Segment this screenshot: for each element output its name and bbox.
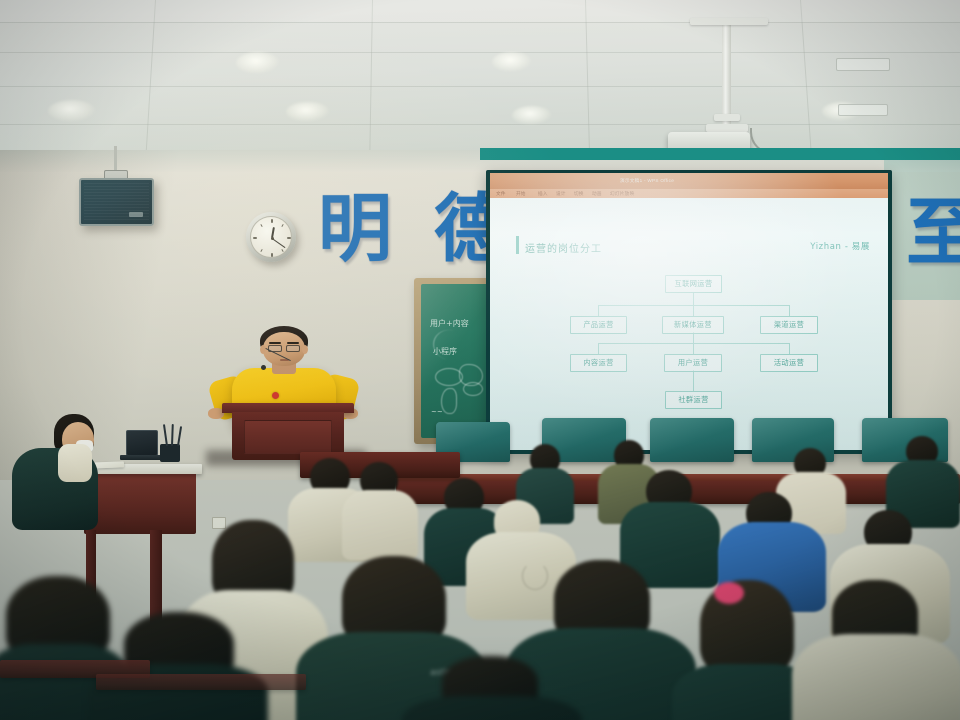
ceiling-light xyxy=(48,100,96,122)
audience-member xyxy=(886,436,960,516)
bench-row-front xyxy=(96,674,306,690)
seated-operator xyxy=(12,414,122,534)
podium-front-panel xyxy=(244,420,332,454)
audience-member xyxy=(620,470,720,574)
flow-node-l3-2: 活动运营 xyxy=(760,354,818,372)
laptop-base[interactable] xyxy=(120,455,164,460)
chalk-scribble: ~~ xyxy=(431,408,443,416)
presenter-badge xyxy=(272,392,279,399)
clock-minute-hand xyxy=(272,238,286,248)
presenter-brow xyxy=(269,342,281,344)
chalkboard: 用户+内容 小程序 ~~ xyxy=(421,284,492,438)
slide-title: 运营的岗位分工 xyxy=(525,240,602,255)
slide-logo: Yizhan - 易展 xyxy=(810,240,870,252)
ceiling-light xyxy=(236,52,280,74)
pen-holder xyxy=(160,444,180,462)
projector-mount-plate xyxy=(706,124,748,132)
audience-member xyxy=(402,656,582,720)
flow-node-l4-0: 社群运营 xyxy=(665,391,722,409)
chair-back xyxy=(650,418,734,462)
presenter-ear-right xyxy=(302,345,308,354)
lecture-hall-photo: 明 德 至 用户+内容 小程序 ~~ xyxy=(0,0,960,720)
menu-item-5[interactable]: 动画 xyxy=(592,191,602,197)
ceiling-light xyxy=(492,52,532,72)
ceiling-vent xyxy=(838,104,888,116)
titlebar-text: 演示文稿1 - WPS Office xyxy=(620,178,674,184)
projection-screen: 演示文稿1 - WPS Office 文件 开始 插入 设计 切换 动画 幻灯片… xyxy=(490,173,888,450)
wall-character-3: 至 xyxy=(906,196,960,270)
wall-speaker xyxy=(79,178,154,226)
speaker-stem xyxy=(114,146,117,172)
operator-scarf xyxy=(58,444,92,482)
presenter-brow xyxy=(287,342,299,344)
app-menubar: 文件 开始 插入 设计 切换 动画 幻灯片放映 xyxy=(490,189,888,198)
audience-member xyxy=(342,462,418,550)
flow-connector xyxy=(598,305,790,306)
flow-node-l3-0: 内容运营 xyxy=(570,354,627,372)
slide-title-accent xyxy=(516,236,519,254)
menu-item-6[interactable]: 幻灯片放映 xyxy=(610,191,634,197)
projector-mount-bracket xyxy=(714,114,740,121)
hair-scrunchie xyxy=(714,582,744,604)
flow-connector xyxy=(598,343,790,344)
slide-canvas: 运营的岗位分工 Yizhan - 易展 互联网运营 产品运营 新媒体运营 渠道运… xyxy=(490,198,888,450)
flow-node-root: 互联网运营 xyxy=(665,275,722,293)
ceiling-light xyxy=(512,106,552,125)
microphone-head xyxy=(261,365,266,370)
laptop-screen[interactable] xyxy=(126,430,158,456)
flow-node-l2-2: 渠道运营 xyxy=(760,316,818,334)
audience-member xyxy=(792,580,960,720)
flow-connector xyxy=(693,370,694,392)
flow-node-l3-1: 用户运营 xyxy=(664,354,722,372)
presenter-glasses xyxy=(286,345,300,352)
menu-item-0[interactable]: 文件 xyxy=(496,191,506,197)
app-titlebar: 演示文稿1 - WPS Office xyxy=(490,173,888,189)
chalk-text-1: 用户+内容 xyxy=(430,318,469,329)
presenter-ear-left xyxy=(260,345,266,354)
menu-item-1[interactable]: 开始 xyxy=(516,191,526,197)
menu-item-2[interactable]: 插入 xyxy=(538,191,548,197)
flow-node-l2-1: 新媒体运营 xyxy=(662,316,724,334)
ceiling-vent xyxy=(836,58,890,71)
wall-clock xyxy=(246,212,296,262)
menu-item-3[interactable]: 设计 xyxy=(556,191,566,197)
menu-item-4[interactable]: 切换 xyxy=(574,191,584,197)
flow-node-l2-0: 产品运营 xyxy=(570,316,627,334)
ceiling-light xyxy=(286,102,330,122)
flow-connector xyxy=(693,293,694,305)
wall-character-1: 明 xyxy=(318,192,392,266)
projector-mount-top xyxy=(690,18,768,25)
